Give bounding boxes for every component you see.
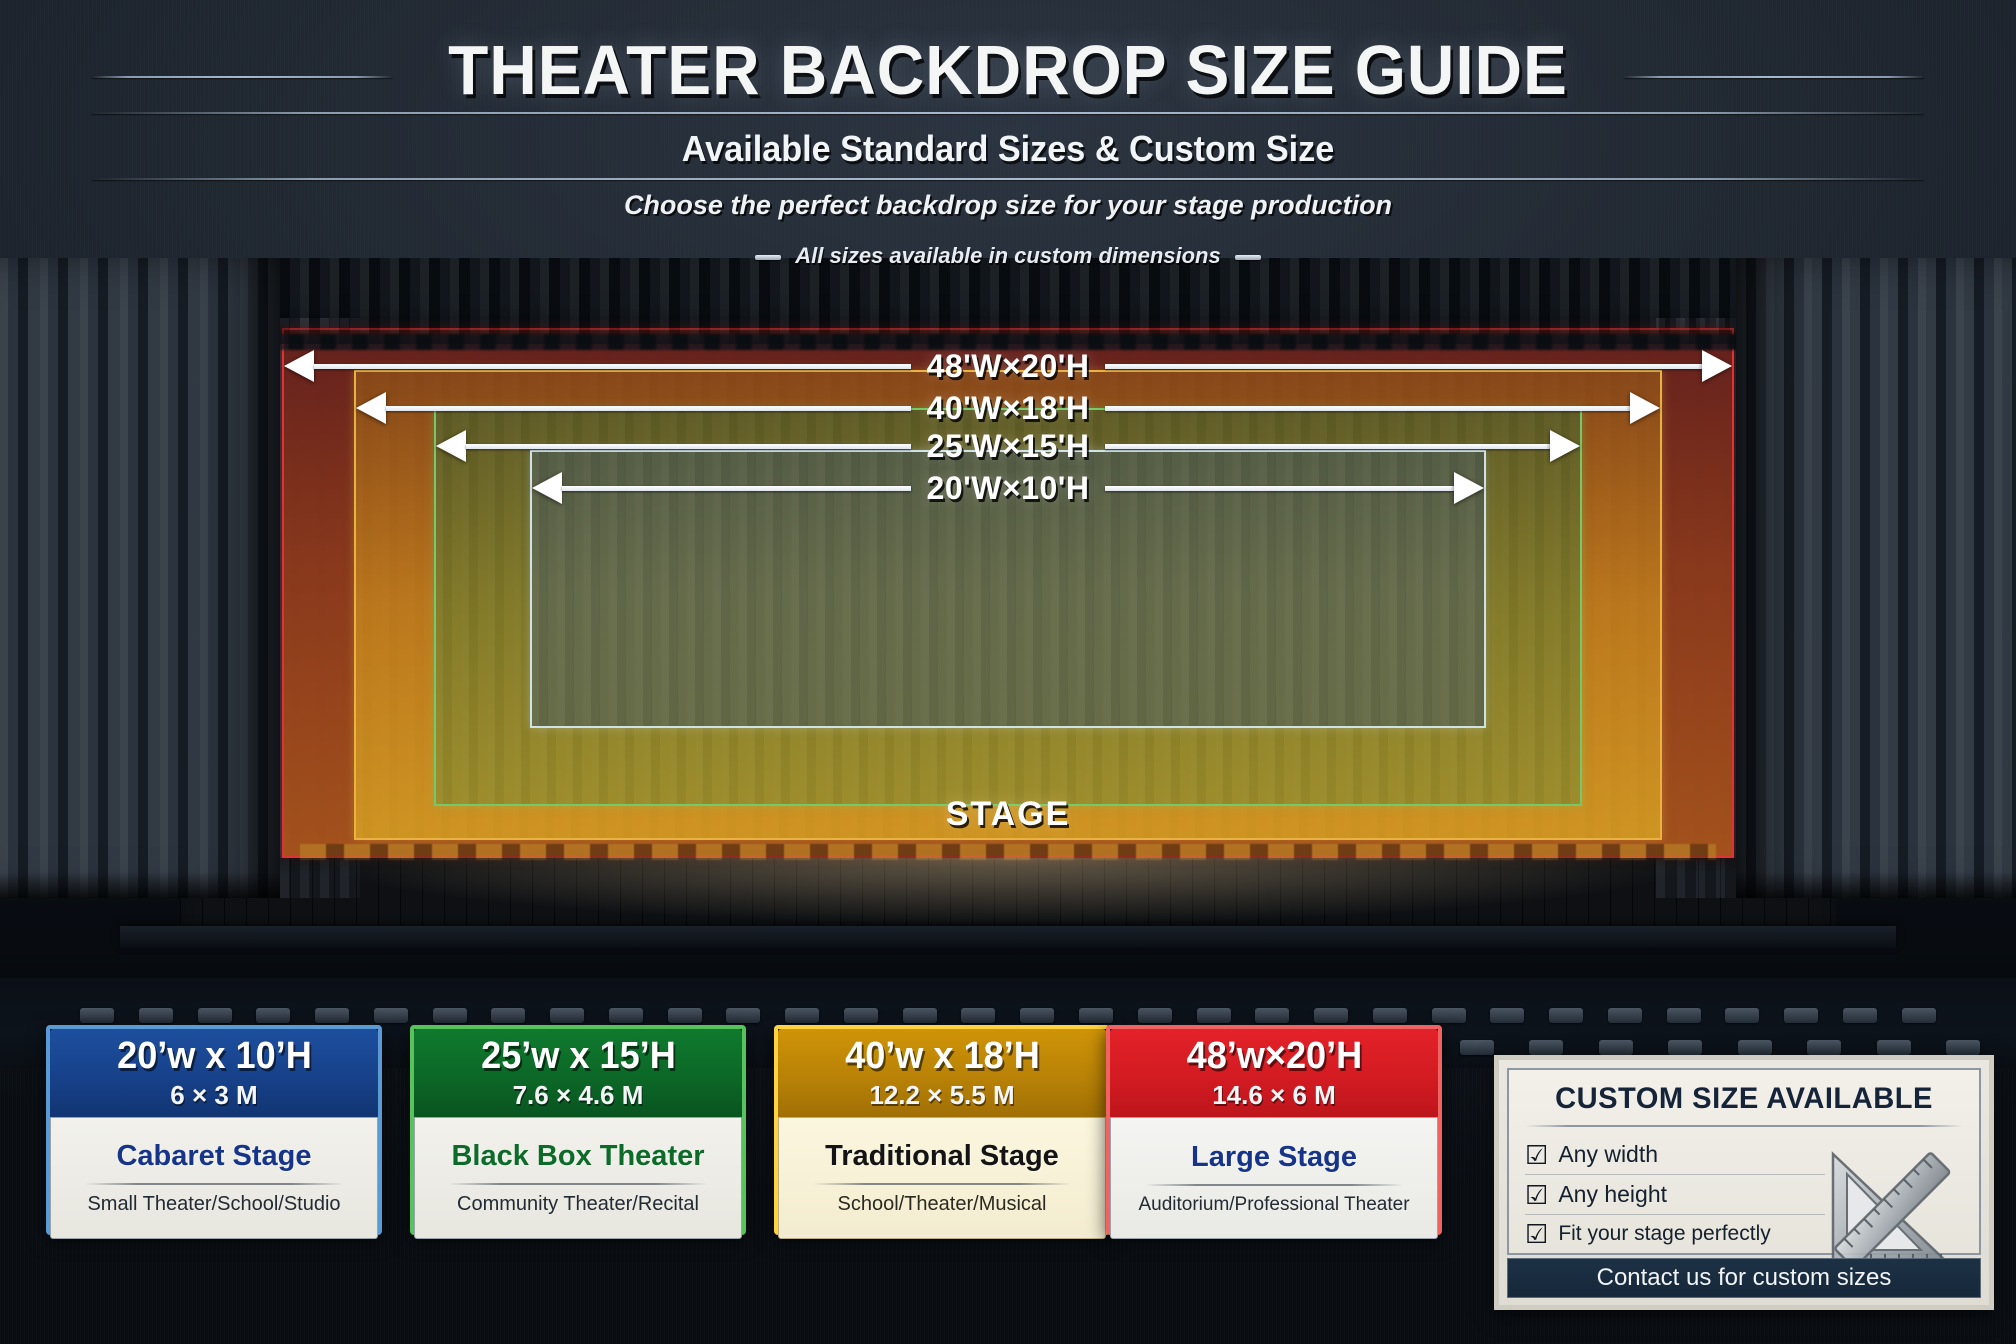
custom-feature-fit-stage[interactable]: ☑ Fit your stage perfectly	[1525, 1214, 1825, 1253]
footlight-icon	[315, 1008, 349, 1023]
footlight-icon	[1843, 1008, 1877, 1023]
custom-size-panel[interactable]: CUSTOM SIZE AVAILABLE ☑ Any width ☑ Any …	[1494, 1055, 1994, 1310]
size-card-usage: Small Theater/School/Studio	[87, 1193, 340, 1216]
size-card-dimension: 48’w×20’H	[1186, 1035, 1362, 1078]
ruler-triangle-icon	[1823, 1146, 1963, 1276]
arrow-right-icon	[1550, 430, 1580, 462]
size-card-name: Black Box Theater	[451, 1140, 704, 1173]
size-card-metric: 7.6 × 4.6 M	[513, 1080, 644, 1111]
footlight-icon	[1197, 1008, 1231, 1023]
stage-label: STAGE	[282, 795, 1734, 834]
size-card-header: 20’w x 10’H 6 × 3 M	[50, 1029, 378, 1117]
dash-left-icon	[755, 255, 781, 260]
size-card-header: 25’w x 15’H 7.6 × 4.6 M	[414, 1029, 742, 1117]
arrow-line-left	[314, 364, 911, 369]
arrow-line-right	[1105, 406, 1630, 411]
size-card-header: 40’w x 18’H 12.2 × 5.5 M	[778, 1029, 1106, 1117]
arrow-line-right	[1105, 364, 1702, 369]
footlight-icon	[1079, 1008, 1113, 1023]
curtain-right	[1736, 258, 2016, 898]
footlight-icon	[1255, 1008, 1289, 1023]
dimension-arrow-48x20: 48'W×20'H	[284, 344, 1732, 388]
dimension-arrow-25x15: 25'W×15'H	[436, 424, 1580, 468]
size-card-name: Cabaret Stage	[116, 1140, 311, 1173]
size-rect-20x10[interactable]: 20'W×10'H	[530, 450, 1486, 728]
arrow-left-icon	[436, 430, 466, 462]
header-rule-low	[92, 178, 1924, 180]
custom-feature-label: Any width	[1558, 1141, 1658, 1168]
curtain-left	[0, 258, 280, 898]
dimension-label-48x20: 48'W×20'H	[911, 348, 1106, 385]
custom-size-title-rule	[1525, 1125, 1963, 1127]
custom-feature-list: ☑ Any width ☑ Any height ☑ Fit your stag…	[1525, 1135, 1825, 1253]
arrow-line-left	[386, 406, 911, 411]
custom-size-title: CUSTOM SIZE AVAILABLE	[1532, 1082, 1957, 1116]
footlight-icon	[1608, 1008, 1642, 1023]
size-card-divider	[85, 1183, 342, 1185]
footlight-icon	[139, 1008, 173, 1023]
size-card-body: Cabaret Stage Small Theater/School/Studi…	[50, 1117, 378, 1239]
dash-right-icon	[1235, 255, 1261, 260]
size-card-divider	[449, 1183, 706, 1185]
header-rule-mid	[92, 112, 1924, 114]
footlight-icon	[1902, 1008, 1936, 1023]
checkbox-checked-icon: ☑	[1525, 1142, 1548, 1168]
footlight-icon	[961, 1008, 995, 1023]
footlight-icon	[1490, 1008, 1524, 1023]
contact-banner[interactable]: Contact us for custom sizes	[1507, 1258, 1981, 1298]
page-tagline: Choose the perfect backdrop size for you…	[0, 190, 2016, 221]
backdrop-size-stack: 48'W×20'H 40'W×18'H	[282, 328, 1734, 858]
footlight-icon	[1784, 1008, 1818, 1023]
size-card-usage: Community Theater/Recital	[457, 1193, 699, 1216]
stage-scene: 48'W×20'H 40'W×18'H	[0, 258, 2016, 978]
microline-text: All sizes available in custom dimensions	[795, 243, 1220, 268]
header: THEATER BACKDROP SIZE GUIDE Available St…	[0, 0, 2016, 272]
custom-feature-any-width[interactable]: ☑ Any width	[1525, 1135, 1825, 1174]
custom-feature-label: Fit your stage perfectly	[1558, 1222, 1770, 1246]
footlight-row	[80, 1008, 1936, 1026]
arrow-right-icon	[1630, 392, 1660, 424]
arrow-line-left	[466, 444, 911, 449]
size-card-dimension: 40’w x 18’H	[845, 1035, 1040, 1078]
curtain-right-hem	[1736, 872, 2016, 898]
stage-floor	[180, 858, 1836, 926]
checkbox-checked-icon: ☑	[1525, 1182, 1548, 1208]
arrow-right-icon	[1702, 350, 1732, 382]
size-card-metric: 6 × 3 M	[170, 1080, 257, 1111]
stage-floor-edge	[120, 926, 1896, 948]
footlight-icon	[1667, 1008, 1701, 1023]
size-card-dimension: 20’w x 10’H	[117, 1035, 312, 1078]
footlight-icon	[550, 1008, 584, 1023]
size-card-metric: 12.2 × 5.5 M	[869, 1080, 1014, 1111]
page-title: THEATER BACKDROP SIZE GUIDE	[60, 30, 1955, 110]
footlight-icon	[1138, 1008, 1172, 1023]
arrow-line-right	[1105, 444, 1550, 449]
size-card-name: Large Stage	[1191, 1141, 1357, 1174]
size-card-large[interactable]: 48’w×20’H 14.6 × 6 M Large Stage Auditor…	[1106, 1025, 1442, 1235]
size-card-usage: Auditorium/Professional Theater	[1138, 1194, 1409, 1216]
dimension-label-20x10: 20'W×10'H	[911, 470, 1106, 507]
dimension-label-25x15: 25'W×15'H	[911, 428, 1106, 465]
footlight-icon	[903, 1008, 937, 1023]
size-card-usage: School/Theater/Musical	[838, 1193, 1047, 1216]
infographic-root: THEATER BACKDROP SIZE GUIDE Available St…	[0, 0, 2016, 1344]
arrow-right-icon	[1454, 472, 1484, 504]
size-card-black-box[interactable]: 25’w x 15’H 7.6 × 4.6 M Black Box Theate…	[410, 1025, 746, 1235]
size-card-body: Large Stage Auditorium/Professional Thea…	[1110, 1117, 1438, 1239]
size-card-divider	[813, 1183, 1070, 1185]
arrow-left-icon	[284, 350, 314, 382]
footlight-icon	[491, 1008, 525, 1023]
footlight-icon	[198, 1008, 232, 1023]
footlight-icon	[1725, 1008, 1759, 1023]
arrow-line-right	[1105, 486, 1454, 491]
footlight-icon	[1020, 1008, 1054, 1023]
size-card-body: Black Box Theater Community Theater/Reci…	[414, 1117, 742, 1239]
custom-feature-any-height[interactable]: ☑ Any height	[1525, 1174, 1825, 1214]
footlight-icon	[785, 1008, 819, 1023]
footlight-icon	[1373, 1008, 1407, 1023]
footlight-icon	[609, 1008, 643, 1023]
dimension-arrow-20x10: 20'W×10'H	[532, 466, 1484, 510]
footlight-icon	[668, 1008, 702, 1023]
dimension-label-40x18: 40'W×18'H	[911, 390, 1106, 427]
footlight-icon	[433, 1008, 467, 1023]
size-card-metric: 14.6 × 6 M	[1212, 1080, 1336, 1111]
footlight-icon	[374, 1008, 408, 1023]
arrow-left-icon	[532, 472, 562, 504]
custom-feature-label: Any height	[1558, 1181, 1667, 1208]
footlight-icon	[1549, 1008, 1583, 1023]
size-card-body: Traditional Stage School/Theater/Musical	[778, 1117, 1106, 1239]
footlight-icon	[844, 1008, 878, 1023]
footlight-icon	[256, 1008, 290, 1023]
size-card-header: 48’w×20’H 14.6 × 6 M	[1110, 1029, 1438, 1117]
footlight-icon	[1432, 1008, 1466, 1023]
arrow-line-left	[562, 486, 911, 491]
size-card-divider	[1145, 1184, 1402, 1186]
footlight-icon	[726, 1008, 760, 1023]
checkbox-checked-icon: ☑	[1525, 1221, 1548, 1247]
footlight-icon	[1314, 1008, 1348, 1023]
size-card-traditional[interactable]: 40’w x 18’H 12.2 × 5.5 M Traditional Sta…	[774, 1025, 1110, 1235]
page-subtitle: Available Standard Sizes & Custom Size	[50, 128, 1965, 170]
size-card-dimension: 25’w x 15’H	[481, 1035, 676, 1078]
custom-size-inner: CUSTOM SIZE AVAILABLE ☑ Any width ☑ Any …	[1507, 1068, 1981, 1255]
arrow-left-icon	[356, 392, 386, 424]
size-card-cabaret[interactable]: 20’w x 10’H 6 × 3 M Cabaret Stage Small …	[46, 1025, 382, 1235]
size-card-name: Traditional Stage	[825, 1140, 1059, 1173]
footlight-icon	[80, 1008, 114, 1023]
curtain-left-hem	[0, 872, 280, 898]
page-microline: All sizes available in custom dimensions	[0, 243, 2016, 269]
